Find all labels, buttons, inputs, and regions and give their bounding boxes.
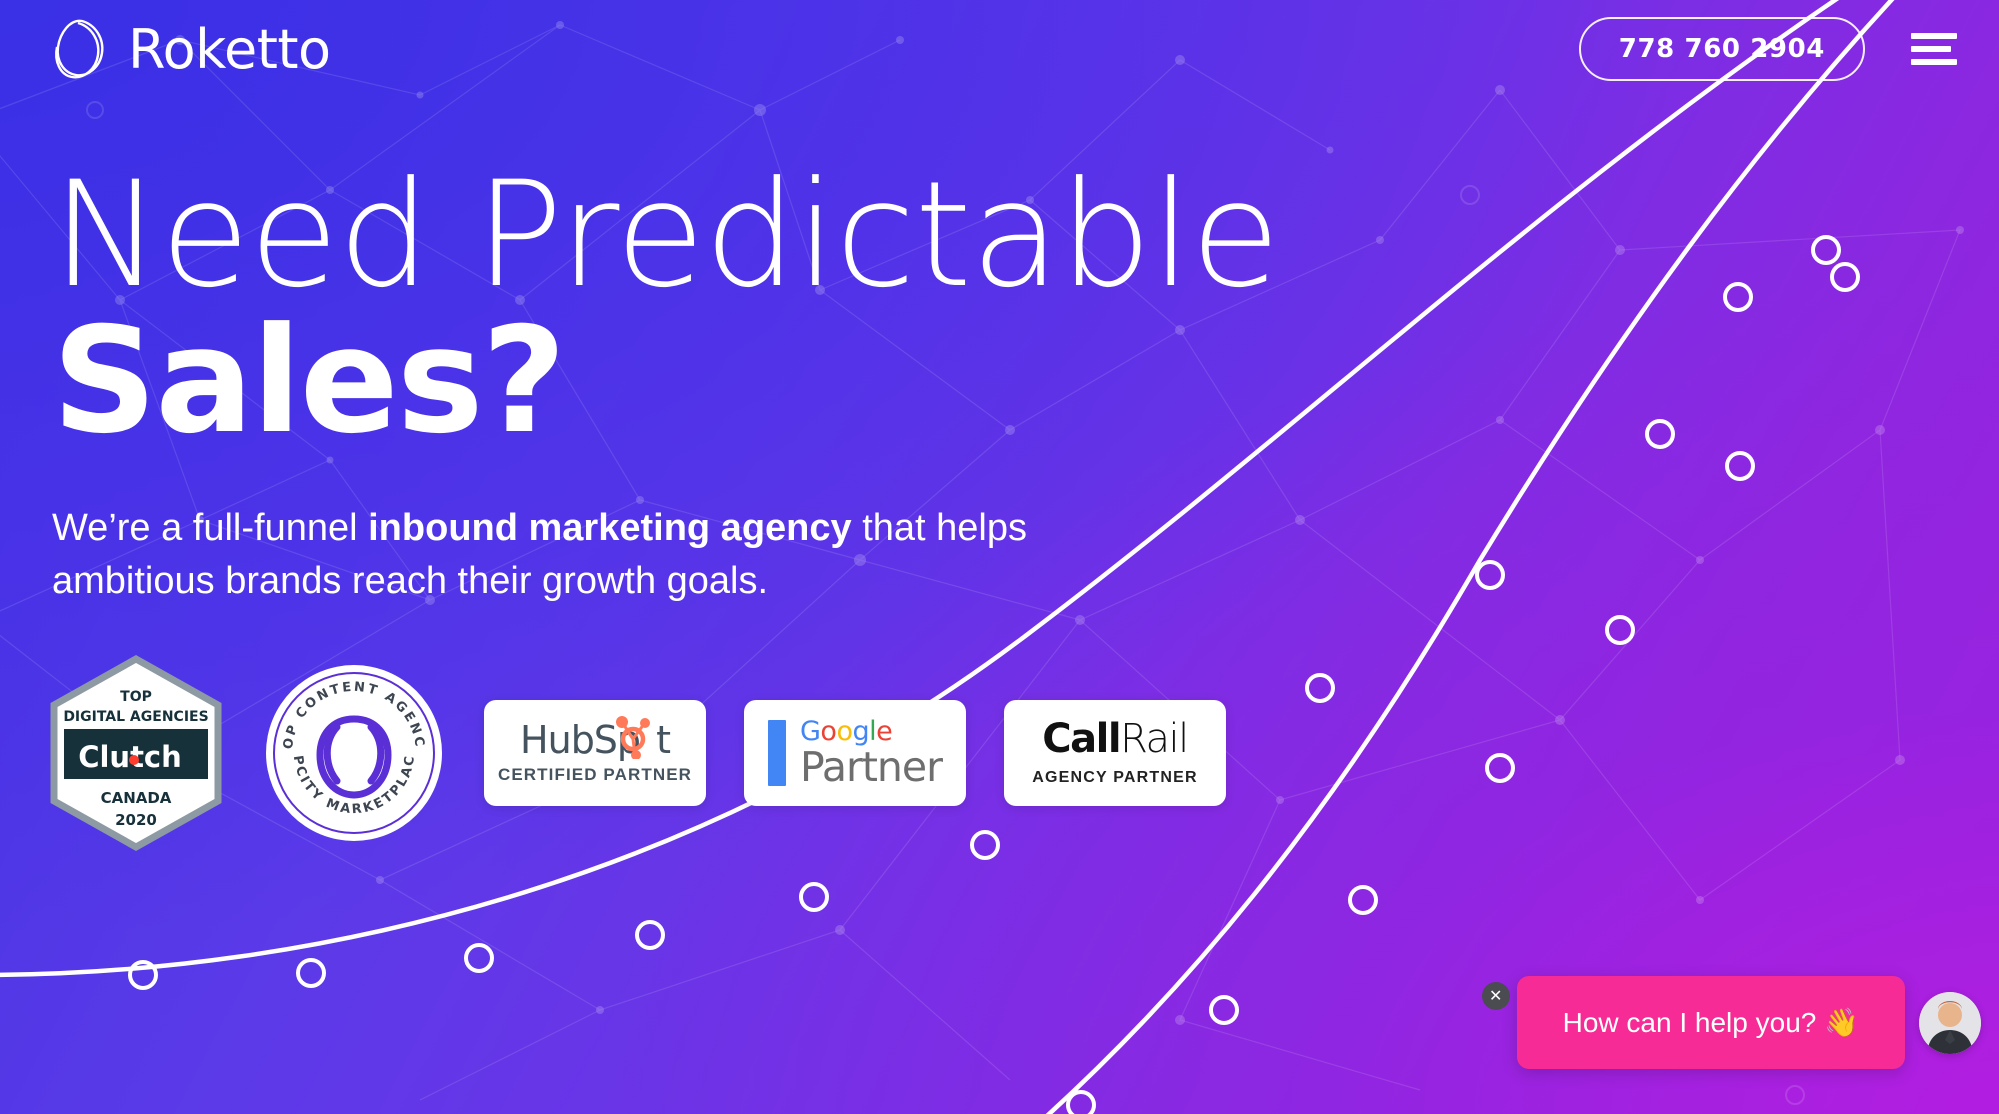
brand-logo-link[interactable]: Roketto [52, 17, 331, 81]
callrail-brand-light: Rail [1120, 716, 1188, 762]
brand-name: Roketto [128, 18, 331, 81]
header-actions: 778 760 2904 [1579, 17, 1961, 81]
hubspot-wordmark: HubSp t [520, 721, 670, 759]
callrail-wordmark: CallRail [1042, 719, 1187, 759]
callrail-badge[interactable]: CallRail AGENCY PARTNER [1004, 700, 1226, 806]
hamburger-menu-icon[interactable] [1911, 29, 1961, 69]
avatar-image [1919, 992, 1981, 1054]
award-badges-row: TOP DIGITAL AGENCIES Clutch CANADA 2020 … [48, 655, 1226, 851]
hero-subheading: We’re a full-funnel inbound marketing ag… [52, 502, 1052, 610]
phone-button[interactable]: 778 760 2904 [1579, 17, 1865, 81]
clutch-year: 2020 [115, 811, 157, 829]
google-blue-bar-icon [768, 720, 786, 786]
callrail-brand-bold: Call [1042, 716, 1120, 762]
hero-copy: Need Predictable Sales? We’re a full-fun… [52, 168, 1279, 609]
headline-line-1: Need Predictable [52, 168, 1279, 304]
headline-line-2: Sales? [52, 314, 1279, 450]
page-title: Need Predictable Sales? [52, 168, 1279, 450]
chat-widget: ✕ How can I help you? 👋 [1517, 976, 1981, 1069]
hubspot-sub-label: CERTIFIED PARTNER [498, 765, 692, 785]
hubspot-sprocket-icon [610, 715, 656, 759]
google-partner-badge[interactable]: Google Partner [744, 700, 966, 806]
clutch-badge[interactable]: TOP DIGITAL AGENCIES Clutch CANADA 2020 [48, 655, 224, 851]
clutch-country: CANADA [101, 789, 172, 807]
clutch-second-label: DIGITAL AGENCIES [63, 709, 208, 725]
upcity-badge[interactable]: TOP CONTENT AGENCY UPCITY MARKETPLACE [262, 661, 446, 845]
subhead-part-1: We’re a full-funnel [52, 507, 368, 549]
close-icon[interactable]: ✕ [1482, 982, 1510, 1010]
google-wordmark: Google [800, 718, 892, 745]
hubspot-brand-part-2: t [656, 721, 670, 759]
site-header: Roketto 778 760 2904 [0, 0, 1999, 98]
google-partner-lockup: Google Partner [768, 718, 942, 788]
hero-section: Roketto 778 760 2904 Need Predictable Sa… [0, 0, 1999, 1114]
roketto-loop-logo-icon [52, 17, 108, 81]
subhead-emphasis: inbound marketing agency [368, 507, 852, 549]
chat-message-bubble[interactable]: How can I help you? 👋 [1517, 976, 1905, 1069]
clutch-top-label: TOP [120, 689, 152, 705]
callrail-sub-label: AGENCY PARTNER [1032, 769, 1198, 787]
hubspot-badge[interactable]: HubSp t CERTIFIED PARTNER [484, 700, 706, 806]
agent-avatar[interactable] [1919, 992, 1981, 1054]
google-partner-label: Partner [800, 747, 942, 788]
google-partner-text: Google Partner [800, 718, 942, 788]
